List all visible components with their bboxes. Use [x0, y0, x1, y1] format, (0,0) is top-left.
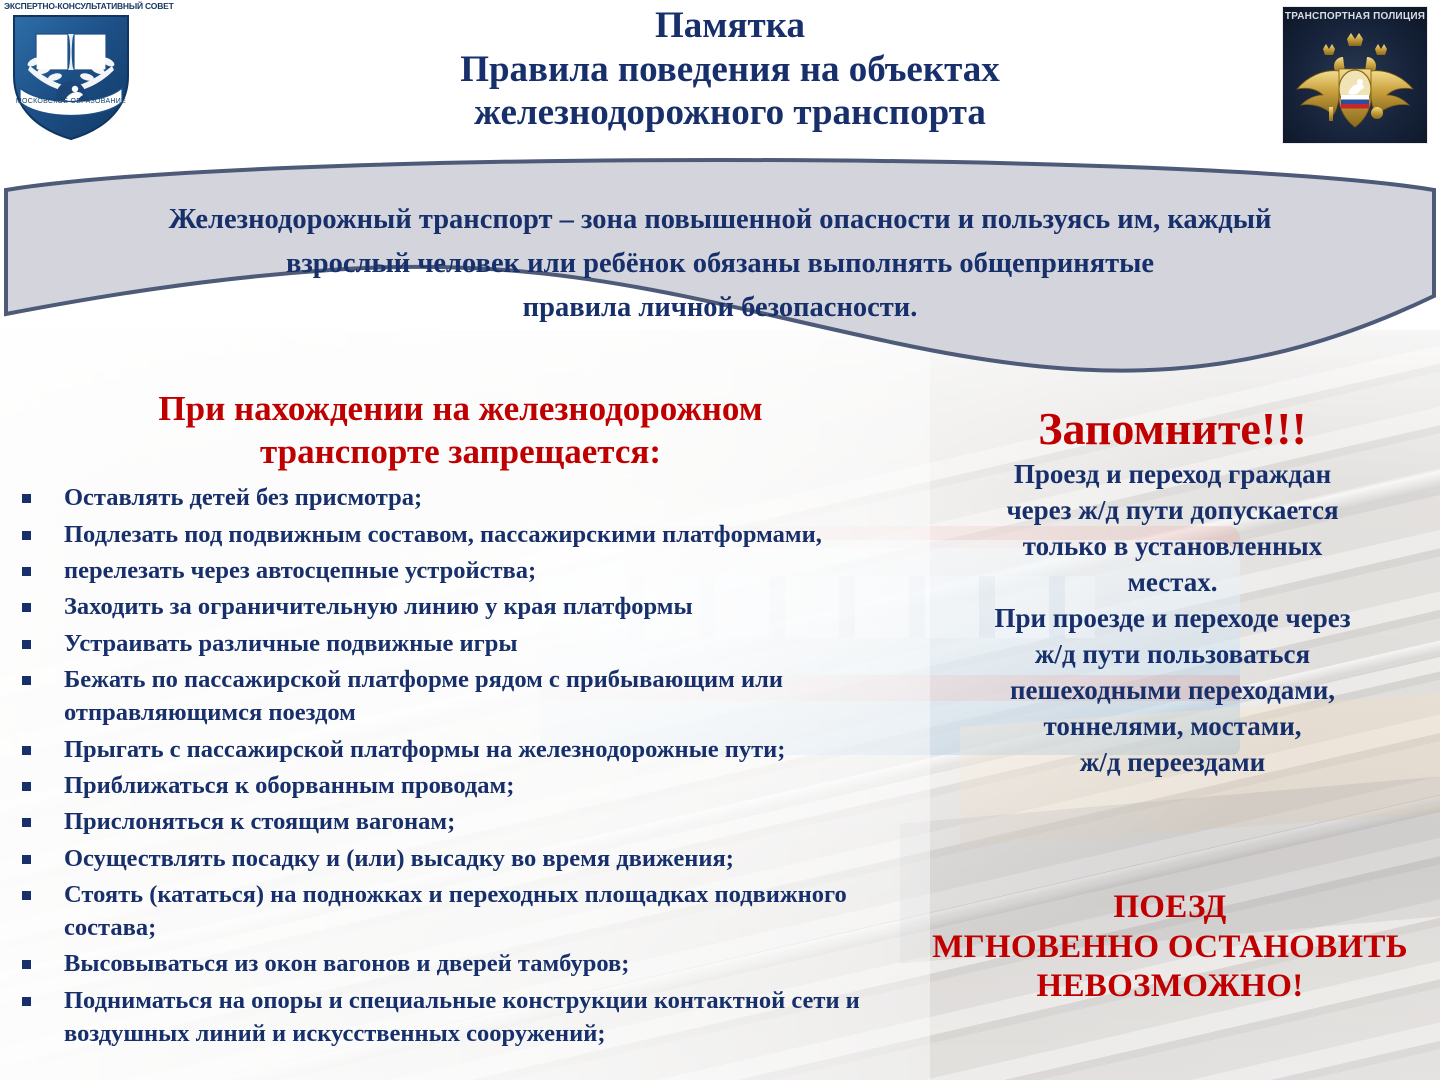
list-item: Устраивать различные подвижные игры [8, 627, 913, 660]
list-item-text: Осуществлять посадку и (или) высадку во … [64, 845, 734, 872]
list-item-text: перелезать через автосцепные устройства; [64, 557, 536, 584]
bullet-square-icon [22, 891, 31, 900]
prohibitions-list: Оставлять детей без присмотра; Подлезать… [8, 481, 913, 1050]
train-warning-line-1: ПОЕЗД [900, 888, 1440, 928]
train-stop-warning: ПОЕЗД МГНОВЕННО ОСТАНОВИТЬ НЕВОЗМОЖНО! [900, 888, 1440, 1007]
bullet-square-icon [22, 960, 31, 969]
remember-line-1: Проезд и переход граждан [915, 457, 1430, 493]
list-item: Приближаться к оборванным проводам; [8, 769, 913, 802]
list-item-text: Подлезать под подвижным составом, пассаж… [64, 521, 822, 548]
list-item-text: Высовываться из окон вагонов и дверей та… [64, 950, 629, 977]
list-item: Прыгать с пассажирской платформы на желе… [8, 733, 913, 766]
title-line-3: железнодорожного транспорта [300, 91, 1160, 135]
bullet-square-icon [22, 855, 31, 864]
list-item-text: Прыгать с пассажирской платформы на желе… [64, 736, 785, 763]
list-item-text: Стоять (кататься) на подножках и переход… [64, 881, 847, 941]
double-headed-eagle-icon [1293, 27, 1417, 131]
remember-line-6: ж/д пути пользоваться [915, 637, 1430, 673]
list-item-text: Устраивать различные подвижные игры [64, 630, 518, 657]
list-item: Бежать по пассажирской платформе рядом с… [8, 663, 913, 730]
transport-police-caption: ТРАНСПОРТНАЯ ПОЛИЦИЯ [1283, 11, 1427, 22]
banner-line-3: правила личной безопасности. [0, 286, 1440, 330]
list-item: Заходить за ограничительную линию у края… [8, 590, 913, 623]
poster-canvas: ЭКСПЕРТНО-КОНСУЛЬТАТИВНЫЙ СОВЕТ [0, 0, 1440, 1080]
bullet-square-icon [22, 997, 31, 1006]
title-line-2: Правила поведения на объектах [300, 48, 1160, 92]
page-title: Памятка Правила поведения на объектах же… [300, 4, 1160, 135]
banner-line-2: взрослый человек или ребёнок обязаны вып… [0, 242, 1440, 286]
remember-section: Запомните!!! Проезд и переход граждан че… [915, 405, 1430, 780]
bullet-square-icon [22, 603, 31, 612]
list-item: Высовываться из окон вагонов и дверей та… [8, 947, 913, 980]
header: ЭКСПЕРТНО-КОНСУЛЬТАТИВНЫЙ СОВЕТ [0, 0, 1440, 175]
list-item-text: Подниматься на опоры и специальные конст… [64, 987, 860, 1047]
bullet-square-icon [22, 676, 31, 685]
banner-text: Железнодорожный транспорт – зона повышен… [0, 198, 1440, 331]
list-item-text: Бежать по пассажирской платформе рядом с… [64, 666, 783, 726]
remember-line-5: При проезде и переходе через [915, 601, 1430, 637]
list-item: перелезать через автосцепные устройства; [8, 554, 913, 587]
list-item-text: Прислоняться к стоящим вагонам; [64, 808, 455, 835]
remember-line-9: ж/д переездами [915, 745, 1430, 781]
train-warning-line-3: НЕВОЗМОЖНО! [900, 967, 1440, 1007]
list-item: Подлезать под подвижным составом, пассаж… [8, 518, 913, 551]
expert-council-logo: ЭКСПЕРТНО-КОНСУЛЬТАТИВНЫЙ СОВЕТ [0, 0, 190, 150]
train-warning-line-2: МГНОВЕННО ОСТАНОВИТЬ [900, 928, 1440, 968]
bullet-square-icon [22, 782, 31, 791]
list-item: Прислоняться к стоящим вагонам; [8, 805, 913, 838]
svg-text:МОСКОВСКОЕ ОБРАЗОВАНИЕ: МОСКОВСКОЕ ОБРАЗОВАНИЕ [16, 98, 126, 105]
title-line-1: Памятка [300, 4, 1160, 48]
remember-line-7: пешеходными переходами, [915, 673, 1430, 709]
bullet-square-icon [22, 818, 31, 827]
prohibitions-heading-line-2: транспорте запрещается: [260, 432, 661, 471]
prohibitions-heading: При нахождении на железнодорожном трансп… [8, 388, 913, 473]
remember-body: Проезд и переход граждан через ж/д пути … [915, 457, 1430, 780]
banner-line-1: Железнодорожный транспорт – зона повышен… [0, 198, 1440, 242]
transport-police-logo: ТРАНСПОРТНАЯ ПОЛИЦИЯ [1282, 6, 1428, 144]
remember-heading: Запомните!!! [915, 405, 1430, 453]
bullet-square-icon [22, 494, 31, 503]
bullet-square-icon [22, 531, 31, 540]
list-item-text: Заходить за ограничительную линию у края… [64, 593, 693, 620]
remember-line-8: тоннелями, мостами, [915, 709, 1430, 745]
remember-line-3: только в установленных [915, 529, 1430, 565]
list-item-text: Оставлять детей без присмотра; [64, 484, 422, 511]
bullet-square-icon [22, 640, 31, 649]
remember-line-2: через ж/д пути допускается [915, 493, 1430, 529]
bullet-square-icon [22, 746, 31, 755]
bullet-square-icon [22, 567, 31, 576]
prohibitions-heading-line-1: При нахождении на железнодорожном [158, 389, 762, 428]
list-item: Осуществлять посадку и (или) высадку во … [8, 842, 913, 875]
list-item: Подниматься на опоры и специальные конст… [8, 984, 913, 1051]
shield-book-laurel-icon: МОСКОВСКОЕ ОБРАЗОВАНИЕ [6, 10, 136, 142]
list-item: Оставлять детей без присмотра; [8, 481, 913, 514]
list-item-text: Приближаться к оборванным проводам; [64, 772, 514, 799]
remember-line-4: местах. [915, 565, 1430, 601]
prohibitions-section: При нахождении на железнодорожном трансп… [8, 388, 913, 1053]
list-item: Стоять (кататься) на подножках и переход… [8, 878, 913, 945]
